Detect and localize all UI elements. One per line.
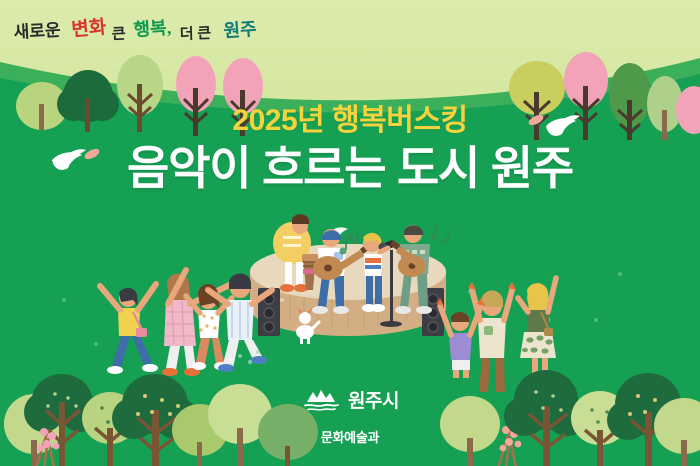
stage-platform: [250, 244, 446, 336]
slogan-calligraphy: 새로운 변화 큰 행복, 더 큰 원주: [14, 14, 274, 48]
performer-guitarist-left: [312, 229, 370, 314]
city-logo-name: 원주시: [348, 386, 399, 413]
title-block: 2025년 행복버스킹 음악이 흐르는 도시 원주: [0, 104, 700, 195]
microphone-stand: [379, 240, 403, 327]
slogan-text-a: 새로운: [14, 21, 61, 42]
department-label: 문화예술과: [0, 427, 700, 446]
subtitle-year: 2025년 행복버스킹: [0, 104, 700, 139]
audience-left-1: [100, 284, 158, 374]
dog-figure: [296, 308, 319, 344]
slogan-text-b: 변화: [71, 16, 108, 41]
audience-left-4: [208, 273, 272, 372]
slogan-text-f: 원주: [223, 19, 257, 41]
page-title: 음악이 흐르는 도시 원주: [0, 141, 700, 195]
slogan-text-c: 큰: [112, 26, 127, 43]
audience-right-1: [468, 282, 516, 392]
ground-flecks: [62, 272, 622, 364]
slogan-text-e: 더 큰: [180, 25, 212, 43]
audience-right-2: [518, 278, 556, 390]
slogan-text-d: 행복,: [133, 17, 172, 40]
dove-icon-center: [330, 227, 348, 238]
performer-drummer: [273, 214, 318, 292]
poster-canvas: 새로운 변화 큰 행복, 더 큰 원주 2025년 행복버스킹 음악이 흐르는 …: [0, 0, 700, 466]
city-logo: 원주시: [301, 386, 399, 413]
speaker-icon-left: [258, 288, 280, 336]
audience-front-center: [437, 298, 485, 378]
mountain-wave-icon: [301, 387, 341, 413]
footer-branding: 원주시 문화예술과: [0, 386, 700, 446]
speaker-icon-right: [422, 288, 444, 336]
music-notes: [340, 224, 449, 255]
performer-guitarist-right: [390, 225, 432, 314]
audience-left-2: [162, 270, 244, 376]
performer-singer: [362, 233, 402, 327]
audience-left-3: [186, 284, 232, 370]
